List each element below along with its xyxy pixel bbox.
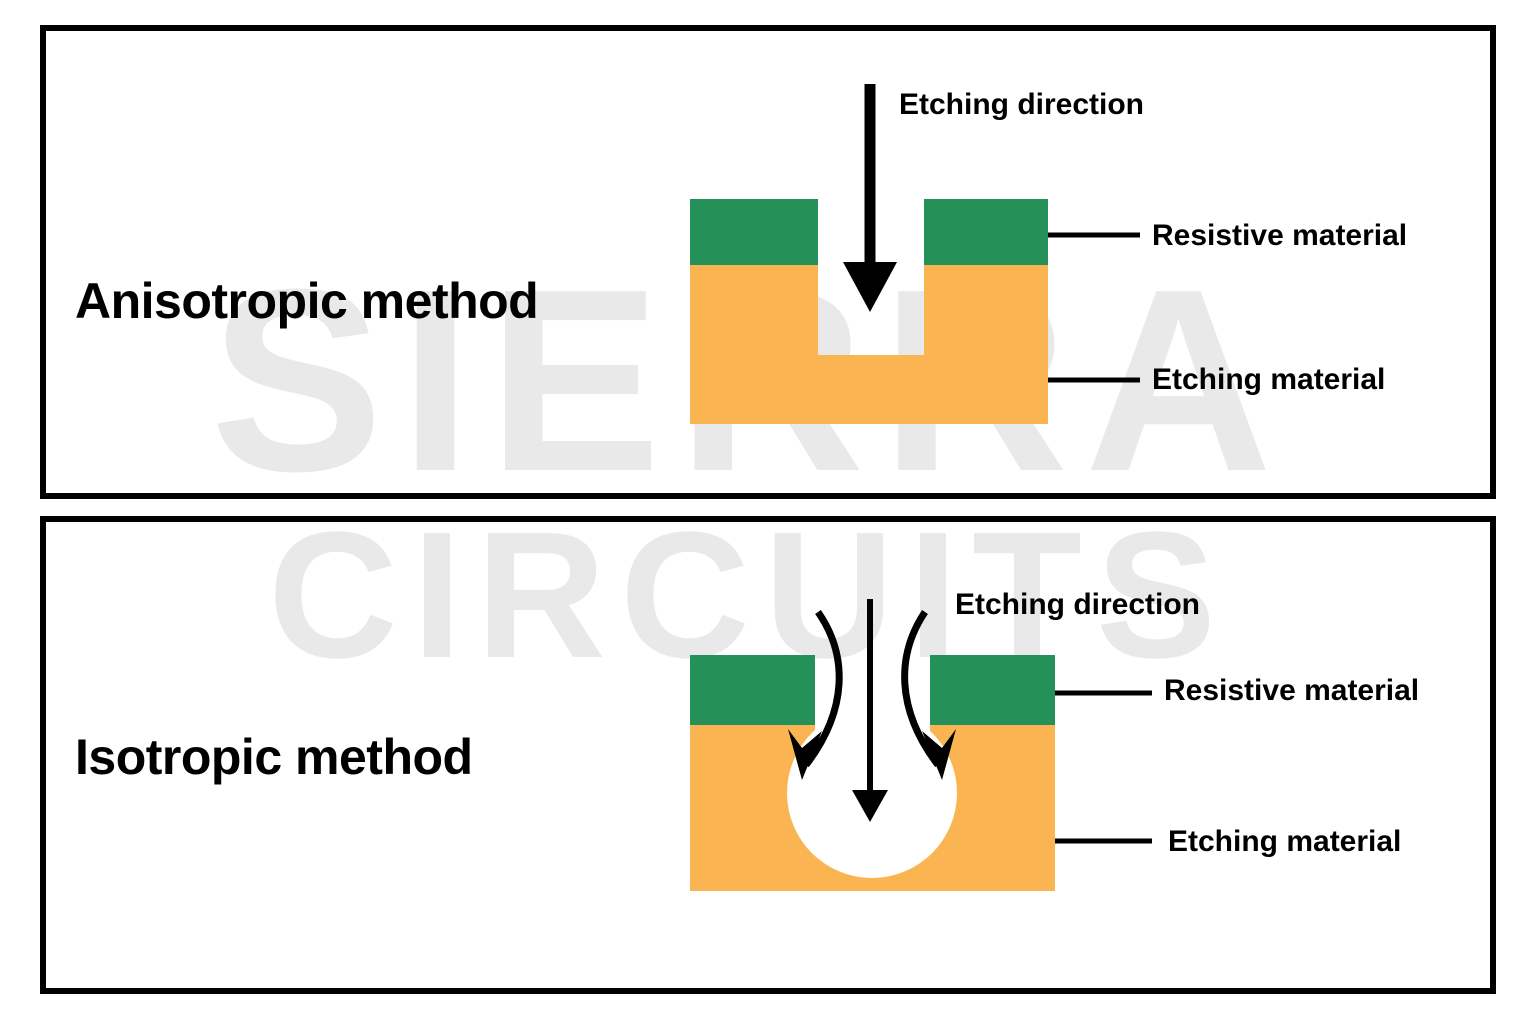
label-resistive-material-anisotropic: Resistive material [1152,219,1407,253]
label-etching-direction-isotropic: Etching direction [955,588,1200,622]
label-resistive-material-isotropic: Resistive material [1164,674,1419,708]
figure-canvas: SIERRA CIRCUITS [0,0,1536,1020]
panel-title-isotropic: Isotropic method [75,728,473,786]
panel-anisotropic [40,25,1496,499]
panel-title-anisotropic: Anisotropic method [75,272,538,330]
label-etching-direction-anisotropic: Etching direction [899,88,1144,122]
label-etching-material-isotropic: Etching material [1168,825,1401,859]
label-etching-material-anisotropic: Etching material [1152,363,1385,397]
